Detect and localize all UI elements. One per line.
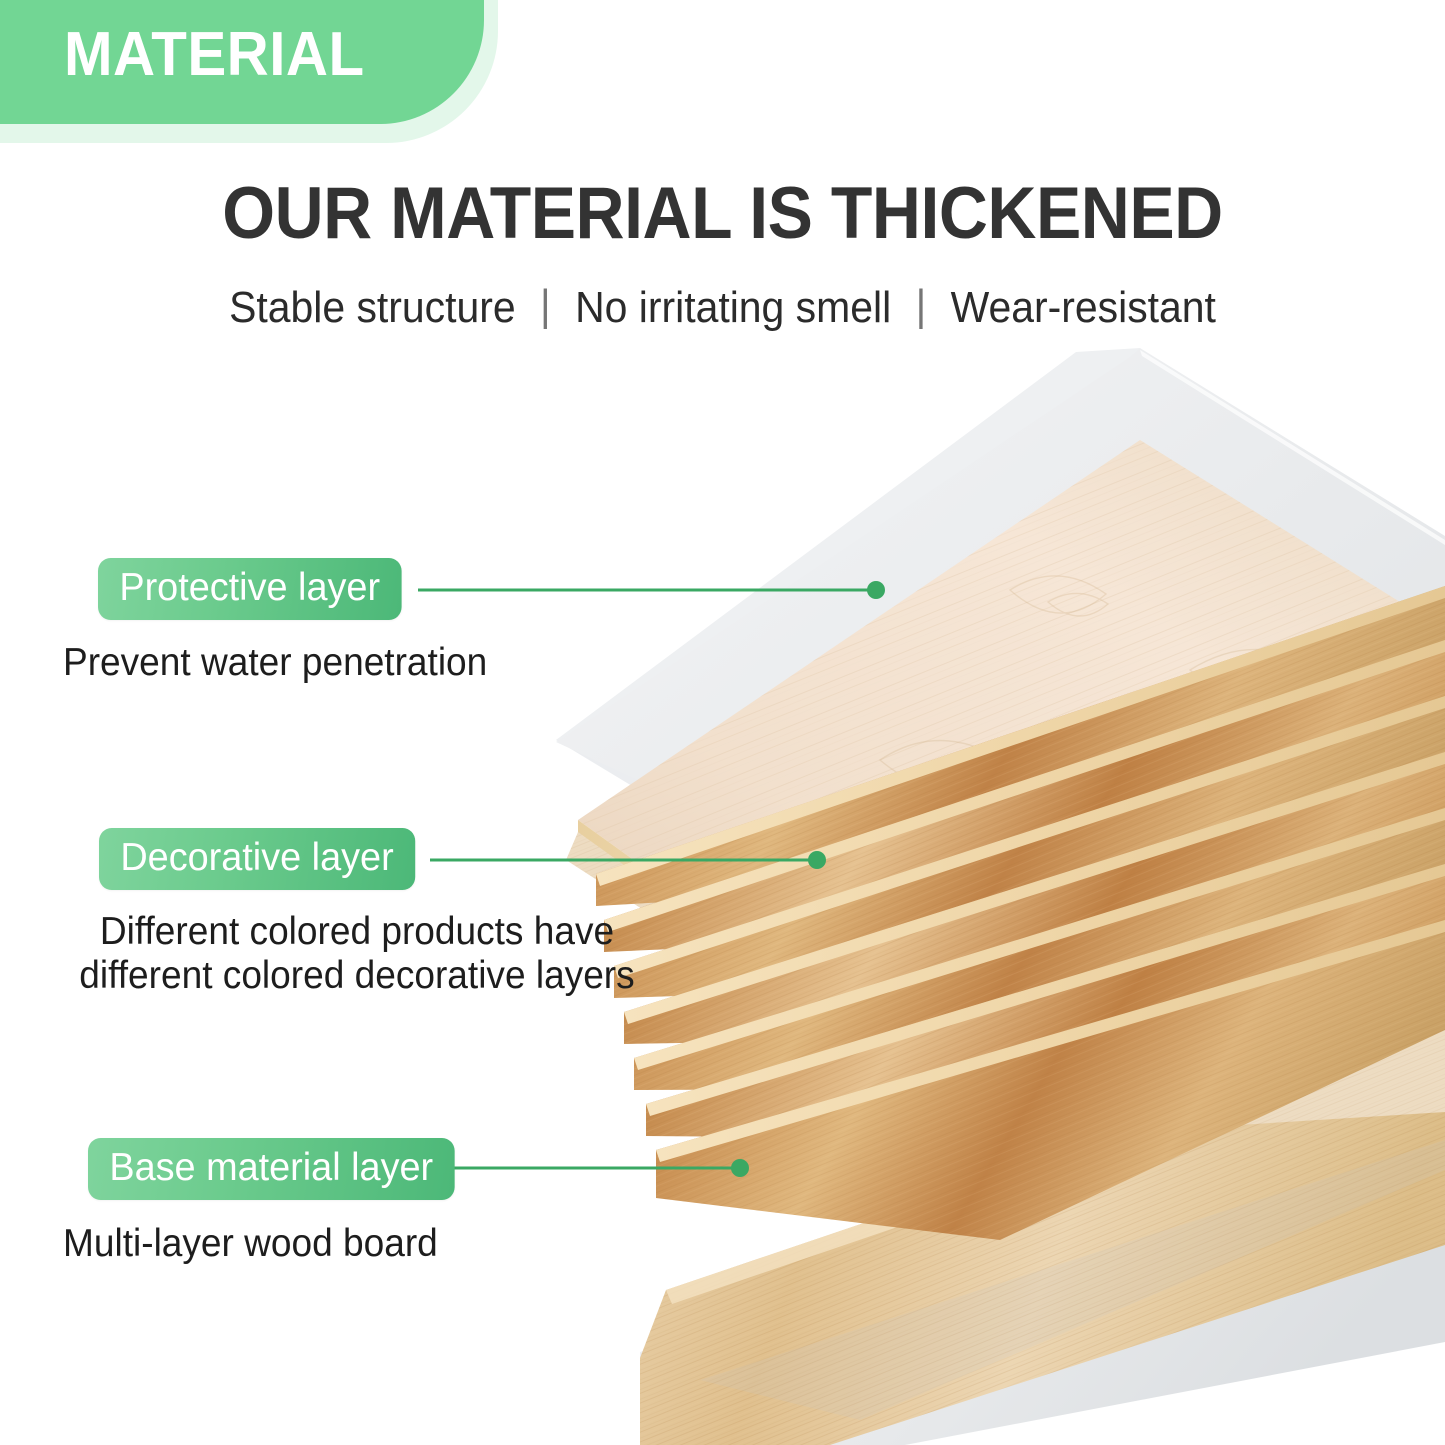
feature-no-smell: No irritating smell — [575, 283, 891, 332]
feature-separator-1: | — [527, 281, 564, 330]
badge-base-material-layer: Base material layer — [88, 1138, 454, 1200]
badge-decorative-layer: Decorative layer — [99, 828, 415, 890]
feature-wear-resistant: Wear-resistant — [951, 283, 1216, 332]
callout-base-material-layer: Base material layer Multi-layer wood boa… — [88, 1138, 466, 1266]
callout-decorative-layer: Decorative layer Different colored produ… — [99, 828, 693, 997]
caption-protective-layer: Prevent water penetration — [63, 641, 487, 685]
feature-list: Stable structure | No irritating smell |… — [51, 283, 1395, 333]
caption-base-material-layer: Multi-layer wood board — [63, 1222, 446, 1266]
feature-separator-2: | — [903, 281, 940, 330]
feature-stable-structure: Stable structure — [229, 283, 516, 332]
caption-decorative-layer: Different colored products have differen… — [53, 910, 661, 997]
badge-protective-layer: Protective layer — [98, 558, 401, 620]
caption-decorative-line1: Different colored products have — [53, 910, 661, 954]
page-title: OUR MATERIAL IS THICKENED — [51, 172, 1395, 255]
caption-decorative-line2: different colored decorative layers — [53, 954, 661, 998]
banner-label: MATERIAL — [64, 19, 365, 90]
callout-protective-layer: Protective layer Prevent water penetrati… — [98, 558, 510, 685]
